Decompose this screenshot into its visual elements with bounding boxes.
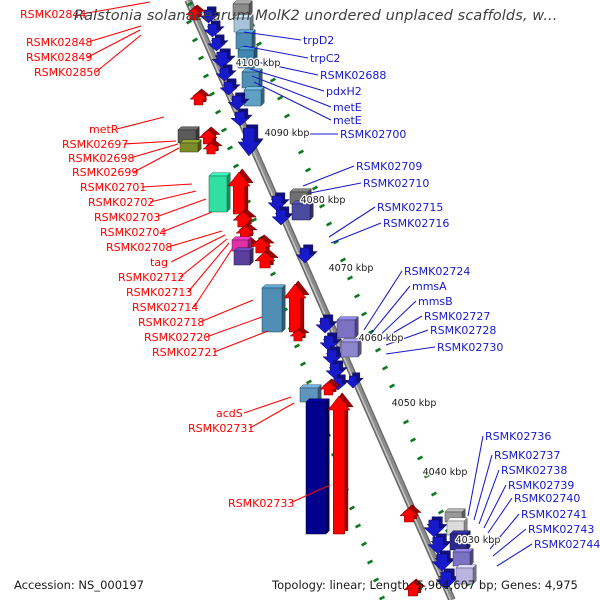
leader-line xyxy=(124,141,176,144)
tick-mark xyxy=(432,493,437,496)
feature-label-forward[interactable]: RSMK02743 xyxy=(528,523,594,536)
tick-mark xyxy=(271,273,276,276)
feature-label-reverse[interactable]: RSMK02698 xyxy=(68,152,134,165)
feature-glyph[interactable] xyxy=(209,173,230,212)
feature-label-forward[interactable]: pdxH2 xyxy=(326,85,362,98)
leader-line xyxy=(303,166,354,186)
tick-mark xyxy=(327,223,332,226)
feature-glyph[interactable] xyxy=(306,399,329,534)
leader-line xyxy=(150,191,196,202)
leader-line xyxy=(96,35,141,72)
feature-label-reverse[interactable]: RSMK02703 xyxy=(94,211,160,224)
feature-label-forward[interactable]: RSMK02688 xyxy=(320,69,386,82)
topology-stats-text: Topology: linear; Length: 5,964,607 bp; … xyxy=(272,578,578,592)
tick-mark xyxy=(228,147,233,150)
feature-label-reverse[interactable]: tag xyxy=(150,256,168,269)
tick-mark xyxy=(199,57,204,60)
leader-line xyxy=(484,485,506,528)
genome-map-canvas[interactable]: 4100 kbp4090 kbp4080 kbp4070 kbp4060 kbp… xyxy=(0,0,600,600)
accession-text: Accession: NS_000197 xyxy=(14,578,144,592)
ruler-tick-label: 4030 kbp xyxy=(456,535,501,546)
tick-mark xyxy=(234,165,239,168)
feature-label-forward[interactable]: RSMK02716 xyxy=(383,217,449,230)
feature-label-reverse[interactable]: RSMK02720 xyxy=(144,331,210,344)
leader-line xyxy=(364,271,402,330)
tick-mark xyxy=(204,75,209,78)
tick-mark xyxy=(350,507,355,510)
leader-line xyxy=(142,184,192,187)
leader-line xyxy=(162,212,212,232)
feature-glyph[interactable] xyxy=(199,127,220,144)
leader-line xyxy=(156,199,206,217)
feature-label-reverse[interactable]: RSMK02733 xyxy=(228,497,294,510)
leader-line xyxy=(369,286,410,336)
tick-mark xyxy=(380,597,385,600)
leader-line xyxy=(200,300,253,322)
tick-mark xyxy=(418,457,423,460)
ruler-tick-label: 4100 kbp xyxy=(236,58,281,69)
feature-label-forward[interactable]: RSMK02737 xyxy=(494,449,560,462)
tick-mark xyxy=(348,277,353,280)
ruler-tick-label: 4080 kbp xyxy=(301,195,346,206)
tick-mark xyxy=(404,421,409,424)
feature-label-reverse[interactable]: RSMK02697 xyxy=(62,138,128,151)
feature-label-forward[interactable]: mmsA xyxy=(412,280,447,293)
feature-label-forward[interactable]: metE xyxy=(333,101,362,114)
tick-mark xyxy=(271,79,276,82)
feature-label-forward[interactable]: RSMK02724 xyxy=(404,265,470,278)
leader-line xyxy=(468,436,483,516)
tick-mark xyxy=(306,169,311,172)
feature-label-reverse[interactable]: RSMK02713 xyxy=(126,286,192,299)
leader-line xyxy=(180,239,227,277)
ruler-tick-label: 4040 kbp xyxy=(423,467,468,478)
feature-glyph[interactable] xyxy=(284,281,309,332)
leader-line xyxy=(244,397,291,413)
tick-mark xyxy=(368,561,373,564)
feature-glyph[interactable] xyxy=(228,169,253,214)
leader-line xyxy=(474,455,492,520)
leader-line xyxy=(488,498,512,533)
feature-glyph[interactable] xyxy=(190,89,210,105)
leader-line xyxy=(497,544,532,566)
feature-label-reverse[interactable]: RSMK02712 xyxy=(118,271,184,284)
feature-label-forward[interactable]: RSMK02740 xyxy=(514,492,580,505)
ruler-tick-label: 4060 kbp xyxy=(359,333,404,344)
leader-line xyxy=(250,403,294,428)
feature-glyph[interactable] xyxy=(453,549,473,566)
feature-label-reverse[interactable]: acdS xyxy=(216,407,243,420)
tick-mark xyxy=(299,151,304,154)
feature-glyph[interactable] xyxy=(328,393,353,534)
feature-label-reverse[interactable]: RSMK02721 xyxy=(152,346,218,359)
ruler-tick-label: 4090 kbp xyxy=(265,128,310,139)
tick-mark xyxy=(313,187,318,190)
tick-mark xyxy=(210,93,215,96)
feature-glyph[interactable] xyxy=(244,87,264,106)
ruler-tick-label: 4070 kbp xyxy=(329,263,374,274)
feature-label-forward[interactable]: RSMK02715 xyxy=(377,201,443,214)
feature-label-forward[interactable]: RSMK02710 xyxy=(363,177,429,190)
feature-label-forward[interactable]: RSMK02741 xyxy=(521,508,587,521)
tick-mark xyxy=(341,259,346,262)
feature-label-reverse[interactable]: RSMK02714 xyxy=(132,301,198,314)
feature-glyph[interactable] xyxy=(262,285,285,332)
tick-mark xyxy=(307,381,312,384)
tick-mark xyxy=(193,39,198,42)
tick-mark xyxy=(376,349,381,352)
tick-mark xyxy=(222,129,227,132)
leader-line xyxy=(254,82,331,120)
feature-label-reverse[interactable]: RSMK02849 xyxy=(26,51,92,64)
ruler-tick-label: 4050 kbp xyxy=(392,398,437,409)
tick-mark xyxy=(285,115,290,118)
feature-label-reverse[interactable]: RSMK02701 xyxy=(80,181,146,194)
feature-label-forward[interactable]: RSMK02727 xyxy=(424,310,490,323)
leader-line xyxy=(168,231,222,247)
leader-line xyxy=(117,117,164,129)
tick-mark xyxy=(439,511,444,514)
feature-glyph[interactable] xyxy=(234,248,253,265)
feature-glyph[interactable] xyxy=(337,317,358,338)
leader-line xyxy=(479,470,499,524)
feature-glyph[interactable] xyxy=(251,235,274,253)
feature-label-forward[interactable]: trpD2 xyxy=(303,34,334,47)
tick-mark xyxy=(295,345,300,348)
tick-mark xyxy=(301,363,306,366)
feature-glyph[interactable] xyxy=(180,140,201,152)
feature-label-reverse[interactable]: RSMK02708 xyxy=(106,241,172,254)
feature-label-reverse[interactable]: RSMK02704 xyxy=(100,226,166,239)
feature-label-forward[interactable]: metE xyxy=(333,114,362,127)
tick-mark xyxy=(390,385,395,388)
tick-mark xyxy=(411,439,416,442)
feature-label-reverse[interactable]: RSMK02731 xyxy=(188,422,254,435)
feature-label-reverse[interactable]: RSMK02718 xyxy=(138,316,204,329)
leader-line xyxy=(386,347,435,354)
tick-mark xyxy=(278,97,283,100)
genome-map-view: 4100 kbp4090 kbp4080 kbp4070 kbp4060 kbp… xyxy=(0,0,600,600)
tick-mark xyxy=(362,313,367,316)
feature-label-reverse[interactable]: metR xyxy=(89,123,119,136)
feature-label-forward[interactable]: RSMK02730 xyxy=(437,341,503,354)
leader-line xyxy=(331,223,381,243)
feature-label-forward[interactable]: trpC2 xyxy=(310,52,341,65)
feature-label-reverse[interactable]: RSMK02850 xyxy=(34,66,100,79)
tick-mark xyxy=(383,367,388,370)
feature-label-forward[interactable]: RSMK02738 xyxy=(501,464,567,477)
leader-line xyxy=(206,317,262,337)
tick-mark xyxy=(355,295,360,298)
feature-label-forward[interactable]: RSMK02736 xyxy=(485,430,551,443)
feature-label-forward[interactable]: RSMK02709 xyxy=(356,160,422,173)
feature-label-reverse[interactable]: RSMK02848 xyxy=(26,36,92,49)
feature-label-forward[interactable]: RSMK02744 xyxy=(534,538,600,551)
feature-label-forward[interactable]: mmsB xyxy=(418,295,453,308)
tick-mark xyxy=(356,525,361,528)
tick-mark xyxy=(216,111,221,114)
page-title: Ralstonia solanacearum MolK2 unordered u… xyxy=(74,8,557,24)
feature-label-reverse[interactable]: RSMK02699 xyxy=(72,166,138,179)
leader-line xyxy=(130,144,178,158)
feature-label-forward[interactable]: RSMK02728 xyxy=(430,324,496,337)
feature-label-forward[interactable]: RSMK02700 xyxy=(340,128,406,141)
tick-mark xyxy=(257,43,262,46)
feature-label-forward[interactable]: RSMK02739 xyxy=(508,479,574,492)
leader-line xyxy=(329,207,375,237)
leader-line xyxy=(214,331,268,352)
tick-mark xyxy=(362,543,367,546)
feature-label-reverse[interactable]: RSMK02702 xyxy=(88,196,154,209)
leader-line xyxy=(134,148,179,172)
